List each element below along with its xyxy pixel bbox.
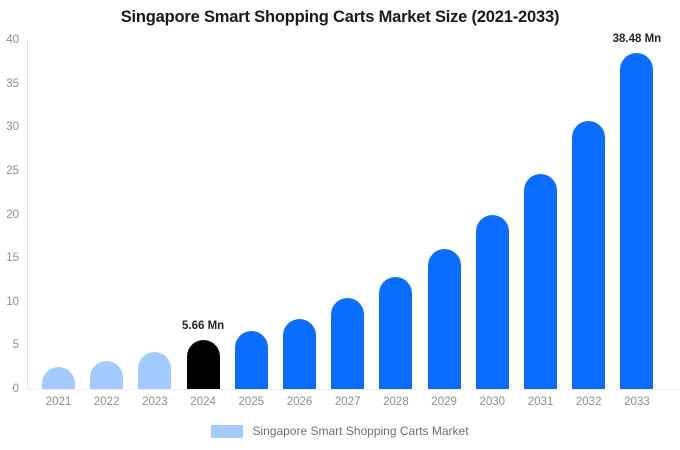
legend-swatch-icon [211,425,243,438]
bar-2031[interactable] [524,40,557,389]
bar-2027[interactable] [331,40,364,389]
chart-title: Singapore Smart Shopping Carts Market Si… [0,8,680,27]
bar-2033[interactable]: 38.48 Mn [620,40,653,389]
y-axis-tick-label: 0 [13,383,19,395]
x-axis-line [27,389,679,390]
chart-legend: Singapore Smart Shopping Carts Market [0,424,680,438]
bar-rect[interactable] [235,331,268,389]
bar-2028[interactable] [379,40,412,389]
x-axis-tick-label: 2028 [379,396,412,408]
bar-value-label: 5.66 Mn [182,320,224,332]
bar-2030[interactable] [476,40,509,389]
bar-value-label: 38.48 Mn [613,33,662,45]
x-axis-tick-label: 2024 [187,396,220,408]
bar-rect[interactable] [283,319,316,389]
bar-rect[interactable] [524,174,557,390]
y-axis-tick-label: 35 [6,78,19,90]
x-axis-tick-label: 2033 [620,396,653,408]
x-axis-tick-label: 2031 [524,396,557,408]
x-axis-tick-label: 2029 [428,396,461,408]
y-axis-tick-label: 25 [6,165,19,177]
y-axis-tick-label: 30 [6,121,19,133]
bar-rect[interactable] [42,367,75,389]
bar-rect[interactable] [331,298,364,389]
bar-rect[interactable] [187,340,220,389]
x-axis-tick-label: 2032 [572,396,605,408]
bar-rect[interactable] [476,215,509,390]
x-axis-tick-label: 2030 [476,396,509,408]
bar-rect[interactable] [620,53,653,389]
bar-rect[interactable] [90,361,123,389]
y-axis-tick-label: 15 [6,252,19,264]
x-axis-tick-label: 2026 [283,396,316,408]
x-axis-tick-label: 2027 [331,396,364,408]
bar-2021[interactable] [42,40,75,389]
x-axis-tick-label: 2023 [138,396,171,408]
x-axis-tick-label: 2025 [235,396,268,408]
x-axis-tick-label: 2021 [42,396,75,408]
bar-2025[interactable] [235,40,268,389]
x-axis-tick-label: 2022 [90,396,123,408]
y-axis-tick-label: 10 [6,296,19,308]
bar-2026[interactable] [283,40,316,389]
plot-area: 5.66 Mn38.48 Mn [27,40,679,389]
bar-2032[interactable] [572,40,605,389]
bar-rect[interactable] [379,277,412,389]
y-axis-tick-label: 5 [13,339,19,351]
bar-2024[interactable]: 5.66 Mn [187,40,220,389]
y-axis-tick-label: 20 [6,209,19,221]
bar-rect[interactable] [138,352,171,389]
chart-container: Singapore Smart Shopping Carts Market Si… [0,0,680,450]
bar-2022[interactable] [90,40,123,389]
legend-label: Singapore Smart Shopping Carts Market [252,424,468,438]
bar-rect[interactable] [572,121,605,389]
y-axis-tick-label: 40 [6,34,19,46]
bar-2029[interactable] [428,40,461,389]
bar-rect[interactable] [428,249,461,389]
bar-2023[interactable] [138,40,171,389]
